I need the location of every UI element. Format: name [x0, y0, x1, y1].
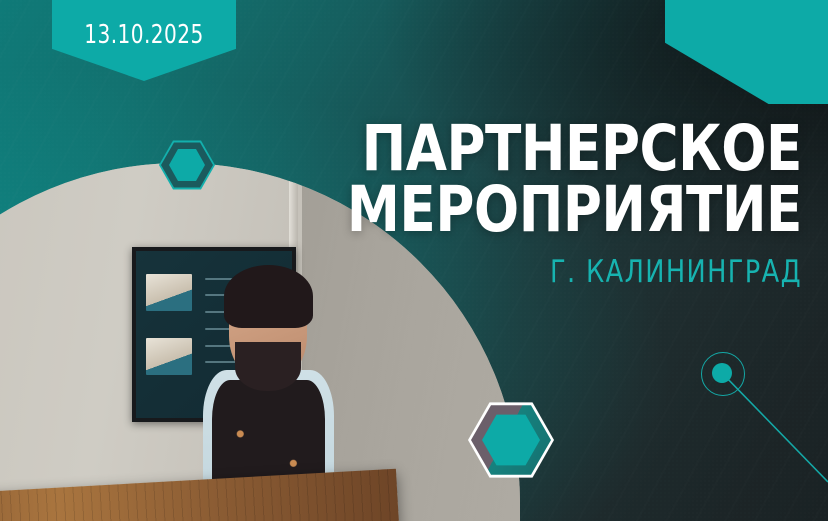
hexagon-white-icon [468, 400, 554, 480]
event-banner: 13.10.2025 ПАРТНЕРСКОЕ МЕРОПРИЯТИЕ Г. КА… [0, 0, 828, 521]
subtitle-city: Г. КАЛИНИНГРАД [232, 254, 802, 290]
date-badge-label: 13.10.2025 [65, 20, 223, 50]
title-line-2: МЕРОПРИЯТИЕ [219, 179, 802, 240]
title-block: ПАРТНЕРСКОЕ МЕРОПРИЯТИЕ Г. КАЛИНИНГРАД [182, 118, 802, 290]
marker-circle-dot-icon [712, 363, 732, 383]
title-line-1: ПАРТНЕРСКОЕ [219, 118, 802, 179]
